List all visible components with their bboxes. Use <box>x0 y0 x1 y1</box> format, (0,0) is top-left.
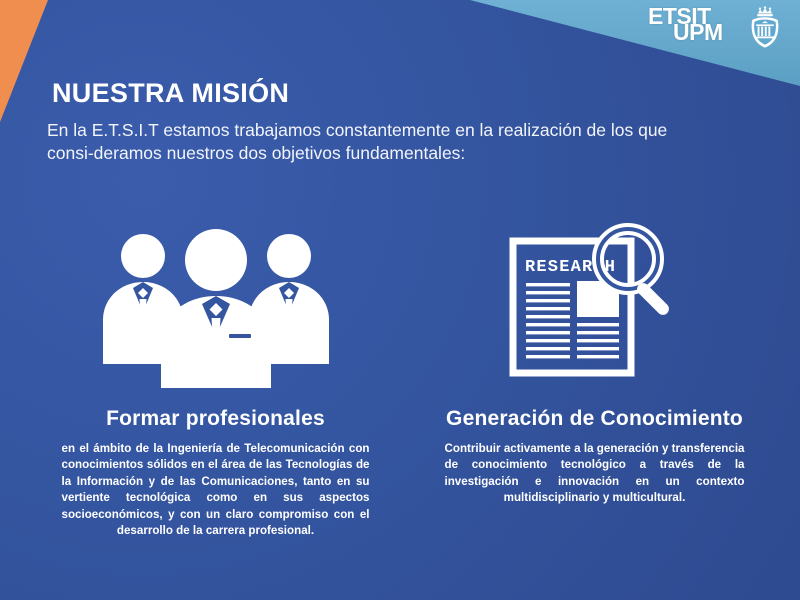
intro-paragraph: En la E.T.S.I.T estamos trabajamos const… <box>47 119 712 165</box>
three-people-icon-wrap <box>91 210 341 405</box>
column-formar-profesionales: Formar profesionales en el ámbito de la … <box>0 210 405 570</box>
upm-crest-icon <box>744 6 786 50</box>
slide-root: ETSIT UPM <box>0 0 800 600</box>
mission-columns: Formar profesionales en el ámbito de la … <box>0 210 800 570</box>
column-heading-right: Generación de Conocimiento <box>446 407 743 431</box>
three-people-icon <box>91 222 341 394</box>
column-body-right: Contribuir activamente a la generación y… <box>445 441 745 507</box>
column-body-left: en el ámbito de la Ingeniería de Telecom… <box>62 441 370 540</box>
logo-text-upm: UPM <box>673 21 723 44</box>
etsit-upm-logo: ETSIT UPM <box>648 4 786 52</box>
page-title: NUESTRA MISIÓN <box>52 78 289 109</box>
column-heading-left: Formar profesionales <box>106 407 325 431</box>
column-generacion-conocimiento: RESEARCH <box>405 210 800 570</box>
orange-corner-triangle <box>0 0 140 130</box>
logo-wordmark: ETSIT UPM <box>648 4 740 52</box>
research-icon-wrap: RESEARCH <box>495 210 695 405</box>
research-document-magnifier-icon: RESEARCH <box>495 219 695 397</box>
